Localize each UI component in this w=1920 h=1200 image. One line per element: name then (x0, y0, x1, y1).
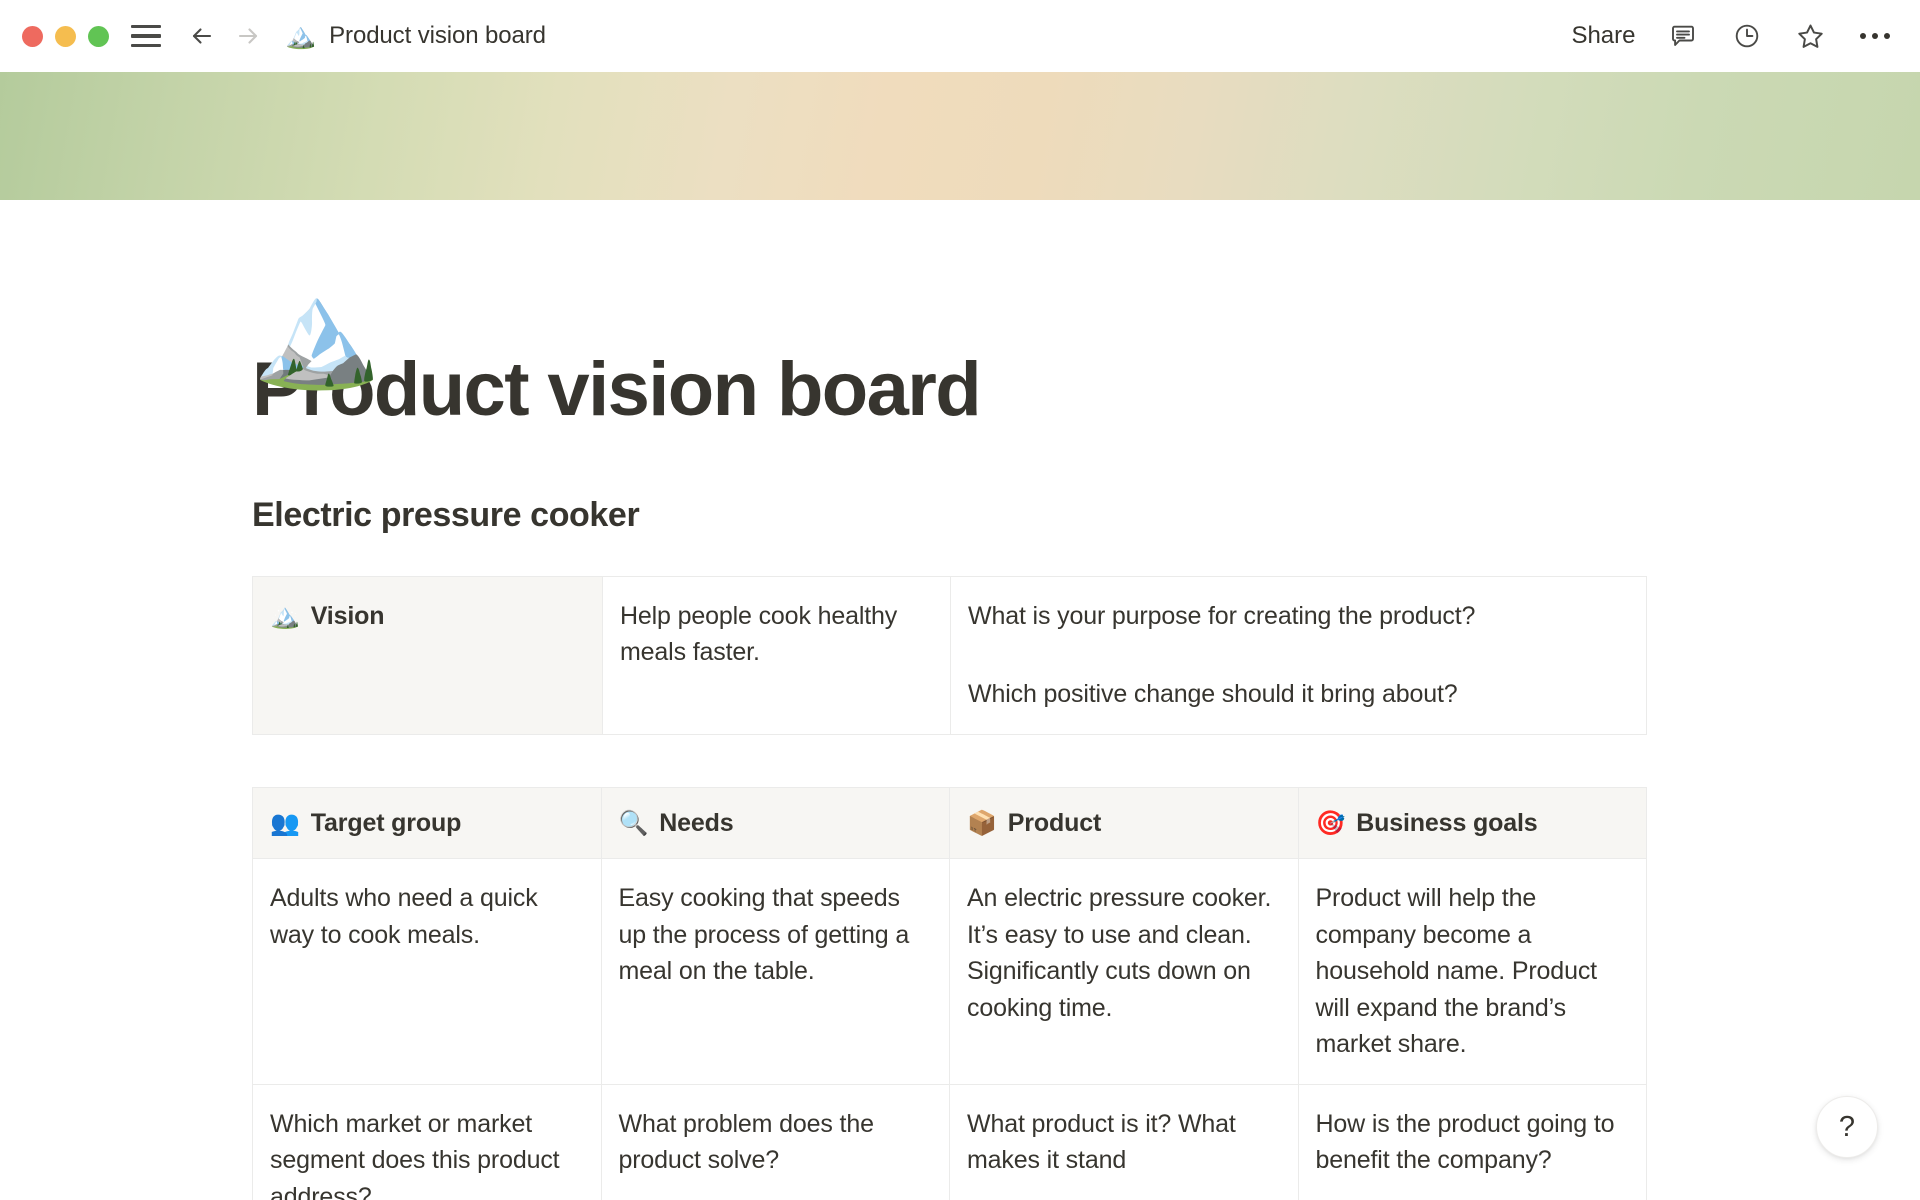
column-header-needs[interactable]: 🔍Needs (601, 787, 950, 859)
column-header-label: Product (1008, 809, 1101, 837)
star-icon[interactable] (1794, 19, 1828, 53)
page-content: 🏔️ Product vision board Electric pressur… (0, 350, 1920, 1200)
table-row: Adults who need a quick way to cook meal… (253, 859, 1647, 1085)
three-dots-icon[interactable] (1858, 33, 1893, 40)
window-titlebar: 🏔️ Product vision board Share (0, 0, 1920, 72)
clock-history-icon[interactable] (1730, 19, 1764, 53)
breadcrumb[interactable]: 🏔️ Product vision board (285, 22, 546, 50)
column-header-business-goals[interactable]: 🎯Business goals (1298, 787, 1647, 859)
magnifying-glass-icon: 🔍 (619, 810, 649, 837)
column-header-label: Needs (659, 809, 733, 837)
cell-business-goals-value[interactable]: Product will help the company become a h… (1298, 859, 1647, 1085)
vision-label: Vision (311, 602, 385, 630)
vision-placeholder-cell[interactable]: What is your purpose for creating the pr… (951, 576, 1647, 734)
arrow-left-icon[interactable] (187, 21, 217, 51)
breadcrumb-title: Product vision board (329, 22, 546, 50)
page-title[interactable]: Product vision board (252, 350, 1668, 430)
arrow-right-icon[interactable] (233, 21, 263, 51)
vision-placeholder-1: What is your purpose for creating the pr… (968, 598, 1625, 635)
help-button[interactable]: ? (1816, 1096, 1878, 1158)
section-heading[interactable]: Electric pressure cooker (252, 496, 1668, 535)
cell-target-group-placeholder[interactable]: Which market or market segment does this… (253, 1084, 602, 1200)
titlebar-actions: Share (1571, 19, 1892, 53)
cell-needs-placeholder[interactable]: What problem does the product solve? (601, 1084, 950, 1200)
page-icon-mountain-icon[interactable]: 🏔️ (252, 282, 382, 386)
column-header-label: Business goals (1356, 809, 1537, 837)
cell-target-group-value[interactable]: Adults who need a quick way to cook meal… (253, 859, 602, 1085)
cell-product-placeholder[interactable]: What product is it? What makes it stand (950, 1084, 1299, 1200)
vision-placeholder-2: Which positive change should it bring ab… (968, 676, 1625, 713)
cell-needs-value[interactable]: Easy cooking that speeds up the process … (601, 859, 950, 1085)
navigation-arrows (187, 21, 263, 51)
mountain-icon: 🏔️ (270, 603, 300, 630)
vision-table: 🏔️Vision Help people cook healthy meals … (252, 576, 1647, 735)
cell-product-value[interactable]: An electric pressure cooker. It’s easy t… (950, 859, 1299, 1085)
maximize-window-button[interactable] (88, 26, 109, 47)
hamburger-menu-icon[interactable] (131, 25, 161, 47)
mountain-icon: 🏔️ (285, 24, 316, 49)
package-box-icon: 📦 (967, 810, 997, 837)
table-header-row: 👥Target group 🔍Needs 📦Product 🎯Business … (253, 787, 1647, 859)
target-dart-icon: 🎯 (1316, 810, 1346, 837)
vision-label-cell[interactable]: 🏔️Vision (253, 576, 603, 734)
column-header-product[interactable]: 📦Product (950, 787, 1299, 859)
people-icon: 👥 (270, 810, 300, 837)
board-table: 👥Target group 🔍Needs 📦Product 🎯Business … (252, 787, 1647, 1200)
column-header-label: Target group (311, 809, 462, 837)
share-button[interactable]: Share (1571, 22, 1635, 50)
cover-banner[interactable] (0, 72, 1920, 200)
cell-business-goals-placeholder[interactable]: How is the product going to benefit the … (1298, 1084, 1647, 1200)
table-row: 🏔️Vision Help people cook healthy meals … (253, 576, 1647, 734)
minimize-window-button[interactable] (55, 26, 76, 47)
vision-value-cell[interactable]: Help people cook healthy meals faster. (603, 576, 951, 734)
table-row: Which market or market segment does this… (253, 1084, 1647, 1200)
close-window-button[interactable] (22, 26, 43, 47)
comment-bubble-icon[interactable] (1666, 19, 1700, 53)
vision-table-wrapper: 🏔️Vision Help people cook healthy meals … (252, 576, 1668, 735)
traffic-lights (22, 26, 109, 47)
column-header-target-group[interactable]: 👥Target group (253, 787, 602, 859)
